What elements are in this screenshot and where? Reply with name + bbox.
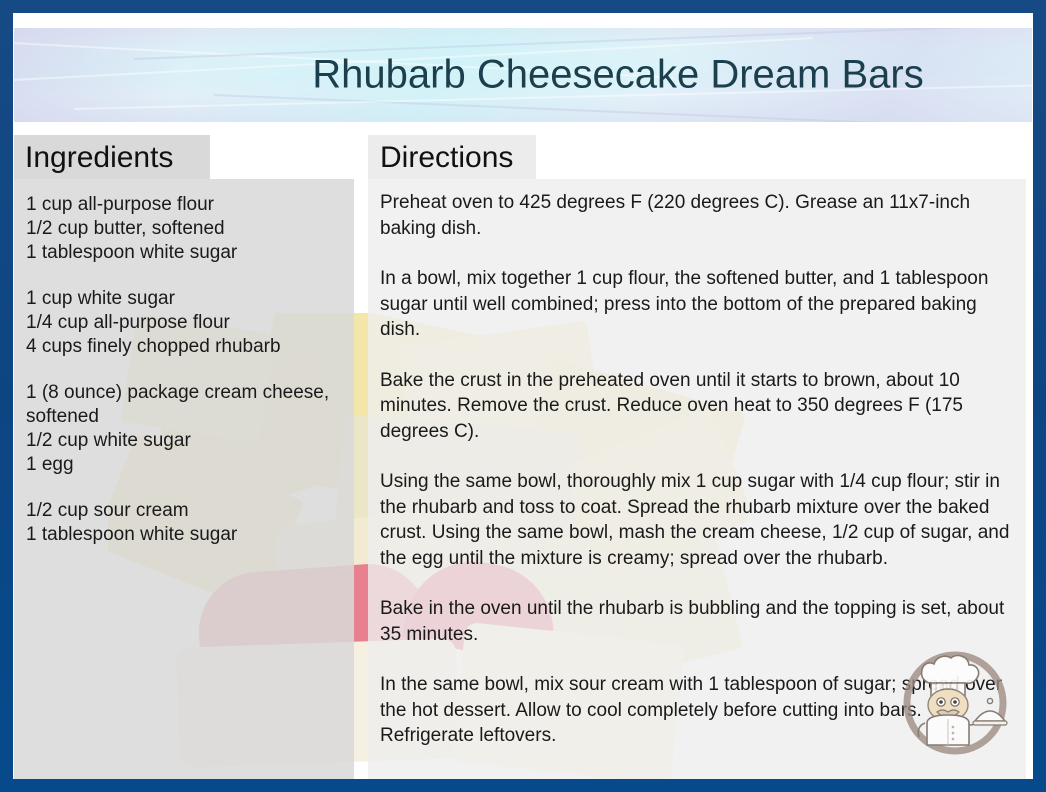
ingredients-heading-tab: Ingredients [14,135,210,179]
direction-step: Using the same bowl, thoroughly mix 1 cu… [380,469,1014,571]
ingredients-column: Ingredients 1 cup all-purpose flour 1/2 … [14,135,354,779]
ingredients-heading: Ingredients [25,141,173,175]
banner-streak [214,94,1032,122]
directions-column: Directions Preheat oven to 425 degrees F… [368,135,1026,779]
direction-step: In a bowl, mix together 1 cup flour, the… [380,266,1014,343]
ingredient-item: 1/2 cup white sugar [26,429,346,453]
ingredients-list: 1 cup all-purpose flour 1/2 cup butter, … [26,193,346,569]
ingredient-item: 4 cups finely chopped rhubarb [26,335,346,359]
ingredient-item: 1/4 cup all-purpose flour [26,311,346,335]
direction-step: In the same bowl, mix sour cream with 1 … [380,672,1014,749]
ingredient-group: 1 (8 ounce) package cream cheese, soften… [26,381,346,477]
ingredient-item: 1/2 cup sour cream [26,499,346,523]
ingredient-item: 1/2 cup butter, softened [26,217,346,241]
direction-step: Bake in the oven until the rhubarb is bu… [380,596,1014,647]
ingredient-item: 1 egg [26,453,346,477]
ingredient-item: 1 tablespoon white sugar [26,241,346,265]
direction-step: Preheat oven to 425 degrees F (220 degre… [380,190,1014,241]
ingredient-item: 1 tablespoon white sugar [26,523,346,547]
directions-list: Preheat oven to 425 degrees F (220 degre… [380,190,1014,774]
ingredient-group: 1 cup all-purpose flour 1/2 cup butter, … [26,193,346,265]
direction-step: Bake the crust in the preheated oven unt… [380,368,1014,445]
recipe-title: Rhubarb Cheesecake Dream Bars [14,53,1032,98]
title-banner: Rhubarb Cheesecake Dream Bars [14,28,1032,122]
recipe-card: Rhubarb Cheesecake Dream Bars Ingredient… [0,0,1046,792]
ingredient-item: 1 (8 ounce) package cream cheese, soften… [26,381,346,429]
directions-heading: Directions [380,141,513,175]
ingredient-item: 1 cup white sugar [26,287,346,311]
ingredient-item: 1 cup all-purpose flour [26,193,346,217]
ingredient-group: 1 cup white sugar 1/4 cup all-purpose fl… [26,287,346,359]
directions-heading-tab: Directions [368,135,536,179]
ingredient-group: 1/2 cup sour cream 1 tablespoon white su… [26,499,346,547]
card-page: Rhubarb Cheesecake Dream Bars Ingredient… [13,13,1033,779]
